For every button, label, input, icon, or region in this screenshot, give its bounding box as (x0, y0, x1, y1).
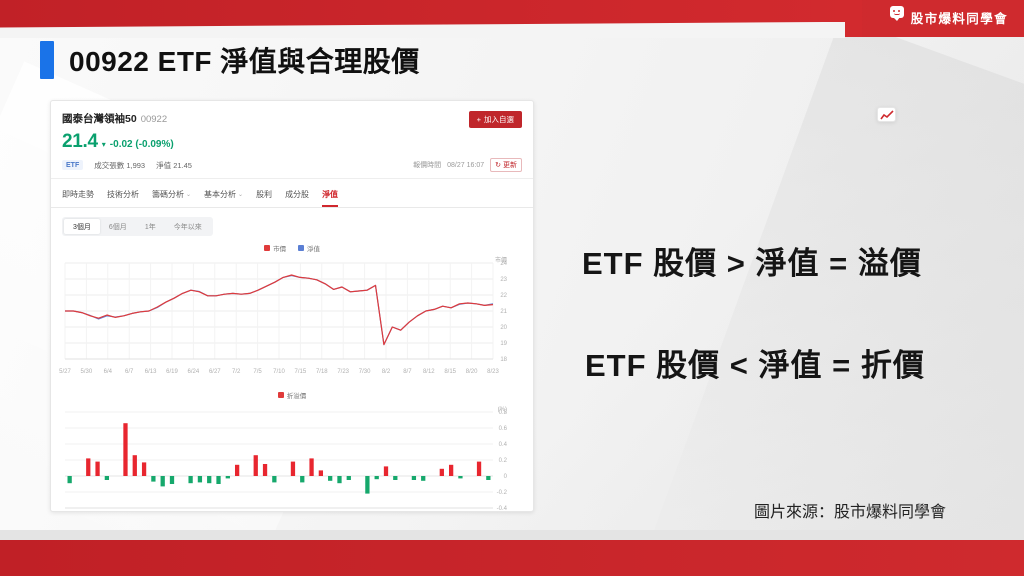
svg-text:6/4: 6/4 (104, 369, 113, 375)
svg-text:7/30: 7/30 (359, 369, 371, 375)
period-option-2[interactable]: 1年 (136, 219, 165, 234)
svg-text:6/27: 6/27 (209, 369, 221, 375)
legend-swatch-icon (264, 245, 270, 251)
svg-text:5/27: 5/27 (59, 369, 71, 375)
add-to-watchlist-button[interactable]: + 加入自選 (469, 111, 522, 128)
svg-text:21: 21 (500, 309, 507, 315)
svg-text:0.4: 0.4 (499, 442, 508, 448)
svg-text:19: 19 (500, 341, 507, 347)
legend-item-0[interactable]: 市價 (264, 243, 286, 253)
statement-premium: ETF 股價 > 淨值 = 溢價 (582, 238, 922, 283)
legend-swatch-icon (278, 392, 284, 398)
stock-meta-row: ETF 成交張數 1,993 淨值 21.45 報價時間 08/27 16:07… (62, 158, 522, 172)
svg-text:(%): (%) (498, 407, 507, 413)
svg-text:7/15: 7/15 (295, 369, 307, 375)
chart-speech-bubble-icon (877, 7, 904, 28)
tab-3[interactable]: 基本分析⌄ (204, 185, 243, 207)
statement-discount: ETF 股價 < 淨值 = 折價 (585, 340, 925, 385)
period-option-0[interactable]: 3個月 (64, 219, 100, 234)
bottom-red-bar (0, 540, 1024, 576)
svg-text:-0.4: -0.4 (497, 506, 508, 512)
stock-meta-left: ETF 成交張數 1,993 淨值 21.45 (62, 160, 192, 171)
volume-label-text: 成交張數 (94, 161, 124, 170)
quote-time-label: 報價時間 (413, 160, 441, 170)
legend-label: 折溢價 (287, 390, 307, 400)
tab-label: 基本分析 (204, 189, 236, 200)
stock-price: 21.4 (62, 131, 98, 153)
chevron-down-icon: ⌄ (238, 191, 243, 198)
volume-label: 成交張數 1,993 (94, 160, 145, 171)
period-selector[interactable]: 3個月6個月1年今年以來 (62, 217, 213, 236)
svg-text:6/13: 6/13 (145, 369, 157, 375)
svg-text:18: 18 (500, 357, 507, 363)
top-red-bar: 股市爆料同學會 (0, 0, 1024, 37)
legend-label: 淨值 (307, 243, 320, 253)
legend-label: 市價 (273, 243, 286, 253)
chevron-down-icon: ⌄ (186, 191, 191, 198)
stock-meta-right: 報價時間 08/27 16:07 ↻ 更新 (413, 158, 522, 172)
page-title: 00922 ETF 淨值與合理股價 (69, 40, 420, 80)
title-accent-bar (40, 41, 54, 79)
brand-name: 股市爆料同學會 (911, 8, 1008, 27)
price-nav-line-chart[interactable]: 24232221201918市價5/275/306/46/76/136/196/… (51, 255, 533, 383)
price-row: 21.4 ▾ -0.02 (-0.09%) (62, 131, 522, 153)
volume-value: 1,993 (126, 161, 145, 170)
refresh-button[interactable]: ↻ 更新 (490, 158, 522, 172)
tab-label: 股利 (256, 189, 272, 200)
svg-text:8/23: 8/23 (487, 369, 499, 375)
price-change: -0.02 (-0.09%) (110, 139, 174, 150)
stock-name: 國泰台灣領袖50 (62, 113, 137, 125)
price-chart-container[interactable]: 24232221201918市價5/275/306/46/76/136/196/… (51, 255, 533, 383)
plus-icon: + (477, 115, 481, 124)
premium-discount-bar-chart[interactable]: 0.80.60.40.20-0.2-0.4(%)5/275/306/46/76/… (51, 402, 533, 512)
stock-code: 00922 (141, 114, 167, 125)
tab-label: 技術分析 (107, 189, 139, 200)
nav-label-text: 淨值 (156, 161, 171, 170)
period-option-3[interactable]: 今年以來 (165, 219, 211, 234)
legend-swatch-icon (298, 245, 304, 251)
stock-identity-row: 國泰台灣領袖5000922 + 加入自選 (62, 109, 522, 128)
image-source-credit: 圖片來源：股市爆料同學會 (754, 498, 946, 522)
svg-text:7/23: 7/23 (337, 369, 349, 375)
chart-line-icon (880, 110, 895, 121)
tab-label: 淨值 (322, 189, 338, 200)
tab-4[interactable]: 股利 (256, 185, 272, 207)
price-chart-legend: 市價淨值 (51, 243, 533, 253)
stock-title: 國泰台灣領袖5000922 (62, 109, 167, 127)
svg-text:7/10: 7/10 (273, 369, 285, 375)
tab-label: 即時走勢 (62, 189, 94, 200)
svg-text:7/5: 7/5 (253, 369, 262, 375)
premium-chart-container[interactable]: 0.80.60.40.20-0.2-0.4(%)5/275/306/46/76/… (51, 402, 533, 512)
stock-card-header: 國泰台灣領袖5000922 + 加入自選 21.4 ▾ -0.02 (-0.09… (51, 101, 533, 178)
tab-2[interactable]: 籌碼分析⌄ (152, 185, 191, 207)
tab-label: 成分股 (285, 189, 309, 200)
tab-5[interactable]: 成分股 (285, 185, 309, 207)
svg-text:6/19: 6/19 (166, 369, 178, 375)
bottom-grey-strip (0, 530, 1024, 540)
svg-text:6/24: 6/24 (188, 369, 200, 375)
svg-text:5/30: 5/30 (81, 369, 93, 375)
tab-label: 籌碼分析 (152, 189, 184, 200)
refresh-label: 更新 (503, 160, 517, 170)
svg-text:20: 20 (500, 325, 507, 331)
svg-text:8/2: 8/2 (382, 369, 391, 375)
slide-title-row: 00922 ETF 淨值與合理股價 (40, 40, 420, 80)
svg-text:22: 22 (500, 293, 507, 299)
add-to-watchlist-label: 加入自選 (484, 114, 514, 125)
brand-logo-group: 股市爆料同學會 (877, 7, 1008, 28)
svg-text:7/18: 7/18 (316, 369, 328, 375)
svg-text:0.6: 0.6 (499, 426, 508, 432)
svg-text:7/2: 7/2 (232, 369, 241, 375)
stock-nav-tabs[interactable]: 即時走勢技術分析籌碼分析⌄基本分析⌄股利成分股淨值 (51, 178, 533, 208)
refresh-icon: ↻ (495, 161, 501, 169)
svg-text:-0.2: -0.2 (497, 490, 508, 496)
svg-text:8/20: 8/20 (466, 369, 478, 375)
nav-value: 21.45 (173, 161, 192, 170)
etf-tag: ETF (62, 160, 83, 170)
period-option-1[interactable]: 6個月 (100, 219, 136, 234)
background-highlight-right (629, 17, 1024, 576)
nav-label: 淨值 21.45 (156, 160, 192, 171)
svg-text:市價: 市價 (495, 256, 507, 264)
stock-quote-card: 國泰台灣領袖5000922 + 加入自選 21.4 ▾ -0.02 (-0.09… (50, 100, 534, 512)
svg-text:0.2: 0.2 (499, 458, 508, 464)
svg-text:8/7: 8/7 (403, 369, 412, 375)
svg-text:8/15: 8/15 (444, 369, 456, 375)
svg-text:8/12: 8/12 (423, 369, 435, 375)
tab-6[interactable]: 淨值 (322, 185, 338, 207)
tab-1[interactable]: 技術分析 (107, 185, 139, 207)
legend-item-0[interactable]: 折溢價 (278, 390, 307, 400)
quote-time-value: 08/27 16:07 (447, 162, 484, 169)
premium-chart-legend: 折溢價 (51, 390, 533, 400)
svg-text:6/7: 6/7 (125, 369, 134, 375)
tab-0[interactable]: 即時走勢 (62, 185, 94, 207)
svg-text:0: 0 (504, 474, 508, 480)
triangle-down-icon: ▾ (102, 140, 106, 149)
svg-text:23: 23 (500, 277, 507, 283)
legend-item-1[interactable]: 淨值 (298, 243, 320, 253)
